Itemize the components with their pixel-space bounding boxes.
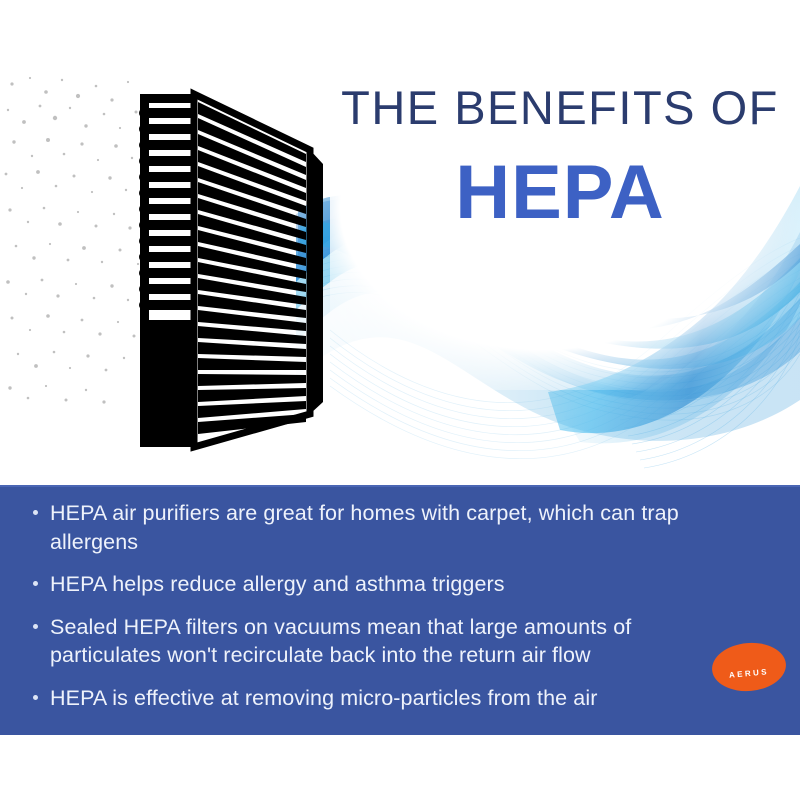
benefit-text: Sealed HEPA filters on vacuums mean that…	[50, 615, 631, 668]
bullet-dot-icon	[33, 624, 38, 629]
bottom-margin	[0, 735, 800, 800]
benefit-text: HEPA helps reduce allergy and asthma tri…	[50, 572, 505, 596]
headline-block: THE BENEFITS OF HEPA	[340, 84, 780, 233]
list-item: HEPA helps reduce allergy and asthma tri…	[0, 570, 800, 599]
page-title-eyebrow: THE BENEFITS OF	[340, 84, 780, 131]
list-item: HEPA air purifiers are great for homes w…	[0, 499, 800, 556]
hepa-filter-icon	[130, 72, 350, 472]
panel-divider	[0, 485, 800, 487]
benefits-list: HEPA air purifiers are great for homes w…	[0, 499, 800, 713]
bullet-dot-icon	[33, 695, 38, 700]
blue-air-flow-waves-icon	[0, 0, 800, 485]
list-item: Sealed HEPA filters on vacuums mean that…	[0, 613, 800, 670]
hepa-benefits-poster: THE BENEFITS OF HEPA HEPA air purifiers …	[0, 0, 800, 800]
benefit-text: HEPA is effective at removing micro-part…	[50, 686, 597, 710]
page-title: HEPA	[340, 153, 780, 233]
bullet-dot-icon	[33, 581, 38, 586]
list-item: HEPA is effective at removing micro-part…	[0, 684, 800, 713]
hero-section: THE BENEFITS OF HEPA	[0, 0, 800, 485]
benefits-panel: HEPA air purifiers are great for homes w…	[0, 485, 800, 735]
benefit-text: HEPA air purifiers are great for homes w…	[50, 501, 679, 554]
bullet-dot-icon	[33, 510, 38, 515]
aerus-logo: AERUS	[712, 643, 786, 691]
